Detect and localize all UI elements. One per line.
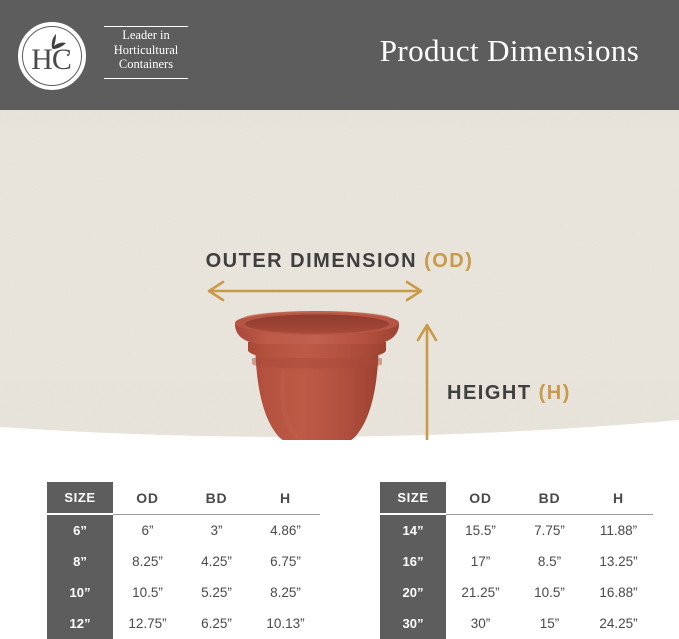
height-label: HEIGHT (H)	[447, 382, 571, 405]
outer-dimension-abbr: (OD)	[424, 250, 473, 272]
cell-bd: 15”	[515, 608, 584, 639]
cell-bd: 6.25”	[182, 608, 251, 639]
table-header-row: SIZE OD BD H	[380, 482, 653, 514]
cell-h: 13.25”	[584, 546, 653, 577]
column-header-od: OD	[446, 482, 515, 514]
table-row: 12” 12.75” 6.25” 10.13”	[47, 608, 320, 639]
logo-tagline-line-2: Horticultural	[100, 43, 192, 58]
cell-size: 20”	[380, 577, 446, 608]
logo-tagline: Leader in Horticultural Containers	[100, 28, 192, 72]
cell-h: 8.25”	[251, 577, 320, 608]
table-row: 10” 10.5” 5.25” 8.25”	[47, 577, 320, 608]
svg-text:HC: HC	[31, 43, 71, 76]
table-row: 8” 8.25” 4.25” 6.75”	[47, 546, 320, 577]
column-header-bd: BD	[515, 482, 584, 514]
cell-size: 6”	[47, 514, 113, 546]
cell-h: 4.86”	[251, 514, 320, 546]
table-row: 20” 21.25” 10.5” 16.88”	[380, 577, 653, 608]
cell-od: 12.75”	[113, 608, 182, 639]
diagram-panel: OUTER DIMENSION (OD)	[0, 110, 679, 440]
dimensions-table: SIZE OD BD H 6” 6” 3” 4.86” 8” 8.25” 4.2…	[47, 482, 320, 639]
cell-od: 17”	[446, 546, 515, 577]
cell-od: 6”	[113, 514, 182, 546]
cell-size: 16”	[380, 546, 446, 577]
column-header-size: SIZE	[47, 482, 113, 514]
cell-h: 11.88”	[584, 514, 653, 546]
infographic-root: HC Leader in Horticultural Containers Pr…	[0, 0, 679, 636]
table-row: 6” 6” 3” 4.86”	[47, 514, 320, 546]
column-header-size: SIZE	[380, 482, 446, 514]
cell-h: 24.25”	[584, 608, 653, 639]
column-header-h: H	[251, 482, 320, 514]
cell-size: 30”	[380, 608, 446, 639]
cell-od: 30”	[446, 608, 515, 639]
table-row: 30” 30” 15” 24.25”	[380, 608, 653, 639]
page-title: Product Dimensions	[340, 33, 679, 69]
cell-bd: 8.5”	[515, 546, 584, 577]
cell-size: 14”	[380, 514, 446, 546]
cell-h: 6.75”	[251, 546, 320, 577]
table-row: 16” 17” 8.5” 13.25”	[380, 546, 653, 577]
height-text: HEIGHT	[447, 382, 539, 404]
cell-h: 10.13”	[251, 608, 320, 639]
outer-dimension-text: OUTER DIMENSION	[206, 250, 424, 272]
header-bar: HC Leader in Horticultural Containers Pr…	[0, 0, 679, 110]
outer-dimension-arrow-icon	[195, 277, 435, 305]
height-abbr: (H)	[539, 382, 571, 404]
cell-od: 10.5”	[113, 577, 182, 608]
cell-h: 16.88”	[584, 577, 653, 608]
cell-od: 8.25”	[113, 546, 182, 577]
dimensions-table-large: SIZE OD BD H 14” 15.5” 7.75” 11.88” 16” …	[380, 482, 653, 639]
logo-rule-bottom	[104, 78, 188, 79]
cell-size: 8”	[47, 546, 113, 577]
table-row: 14” 15.5” 7.75” 11.88”	[380, 514, 653, 546]
cell-bd: 7.75”	[515, 514, 584, 546]
cell-od: 15.5”	[446, 514, 515, 546]
column-header-h: H	[584, 482, 653, 514]
logo-tagline-line-3: Containers	[100, 57, 192, 72]
cell-bd: 3”	[182, 514, 251, 546]
brand-logo: HC Leader in Horticultural Containers	[18, 22, 190, 92]
dimensions-table: SIZE OD BD H 14” 15.5” 7.75” 11.88” 16” …	[380, 482, 653, 639]
cell-bd: 4.25”	[182, 546, 251, 577]
height-arrow-icon	[412, 316, 442, 440]
logo-tagline-line-1: Leader in	[100, 28, 192, 43]
table-header-row: SIZE OD BD H	[47, 482, 320, 514]
column-header-od: OD	[113, 482, 182, 514]
outer-dimension-label: OUTER DIMENSION (OD)	[0, 250, 679, 273]
hc-monogram-icon: HC	[18, 22, 86, 90]
cell-size: 12”	[47, 608, 113, 639]
dimensions-table-small: SIZE OD BD H 6” 6” 3” 4.86” 8” 8.25” 4.2…	[47, 482, 320, 639]
cell-size: 10”	[47, 577, 113, 608]
flower-pot-illustration	[222, 306, 412, 440]
column-header-bd: BD	[182, 482, 251, 514]
cell-od: 21.25”	[446, 577, 515, 608]
cell-bd: 5.25”	[182, 577, 251, 608]
cell-bd: 10.5”	[515, 577, 584, 608]
logo-rule-top	[104, 26, 188, 27]
